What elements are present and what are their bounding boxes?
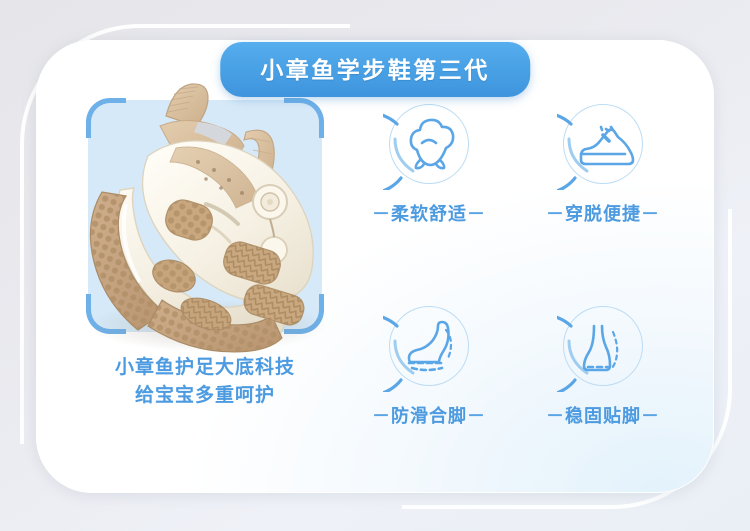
product-column: 小章鱼护足大底科技 给宝宝多重呵护 bbox=[36, 40, 336, 493]
feature-label-text: 稳固贴脚 bbox=[565, 406, 641, 426]
feature-label-soft: －柔软舒适－ bbox=[372, 200, 486, 226]
feature-label-text: 防滑合脚 bbox=[391, 406, 467, 426]
dash-right: － bbox=[641, 204, 660, 224]
feature-label-text: 穿脱便捷 bbox=[565, 204, 641, 224]
dash-right: － bbox=[467, 406, 486, 426]
feature-grid: －柔软舒适－ －穿脱便捷－ bbox=[336, 40, 714, 493]
feature-item-anti-slip: －防滑合脚－ bbox=[342, 300, 516, 494]
dash-left: － bbox=[546, 204, 565, 224]
dash-left: － bbox=[546, 406, 565, 426]
feature-item-soft: －柔软舒适－ bbox=[342, 98, 516, 292]
feature-label-text: 柔软舒适 bbox=[391, 204, 467, 224]
heel-profile-icon bbox=[557, 300, 649, 392]
feature-label-anti-slip: －防滑合脚－ bbox=[372, 402, 486, 428]
feature-item-easy-wear: －穿脱便捷－ bbox=[516, 98, 690, 292]
product-photo-frame bbox=[88, 100, 322, 332]
feature-label-easy-wear: －穿脱便捷－ bbox=[546, 200, 660, 226]
dash-left: － bbox=[372, 406, 391, 426]
sneaker-icon bbox=[557, 98, 649, 190]
dash-left: － bbox=[372, 204, 391, 224]
feature-label-stable: －稳固贴脚－ bbox=[546, 402, 660, 428]
soft-cloud-icon bbox=[383, 98, 475, 190]
dash-right: － bbox=[467, 204, 486, 224]
promo-content: 小章鱼护足大底科技 给宝宝多重呵护 －柔软舒适－ bbox=[36, 40, 714, 493]
page-title-banner: 小章鱼学步鞋第三代 bbox=[220, 42, 530, 97]
product-photo-sneaker bbox=[48, 64, 364, 364]
product-caption-line2: 给宝宝多重呵护 bbox=[115, 382, 295, 410]
dash-right: － bbox=[641, 406, 660, 426]
feature-item-stable: －稳固贴脚－ bbox=[516, 300, 690, 494]
foot-side-icon bbox=[383, 300, 475, 392]
